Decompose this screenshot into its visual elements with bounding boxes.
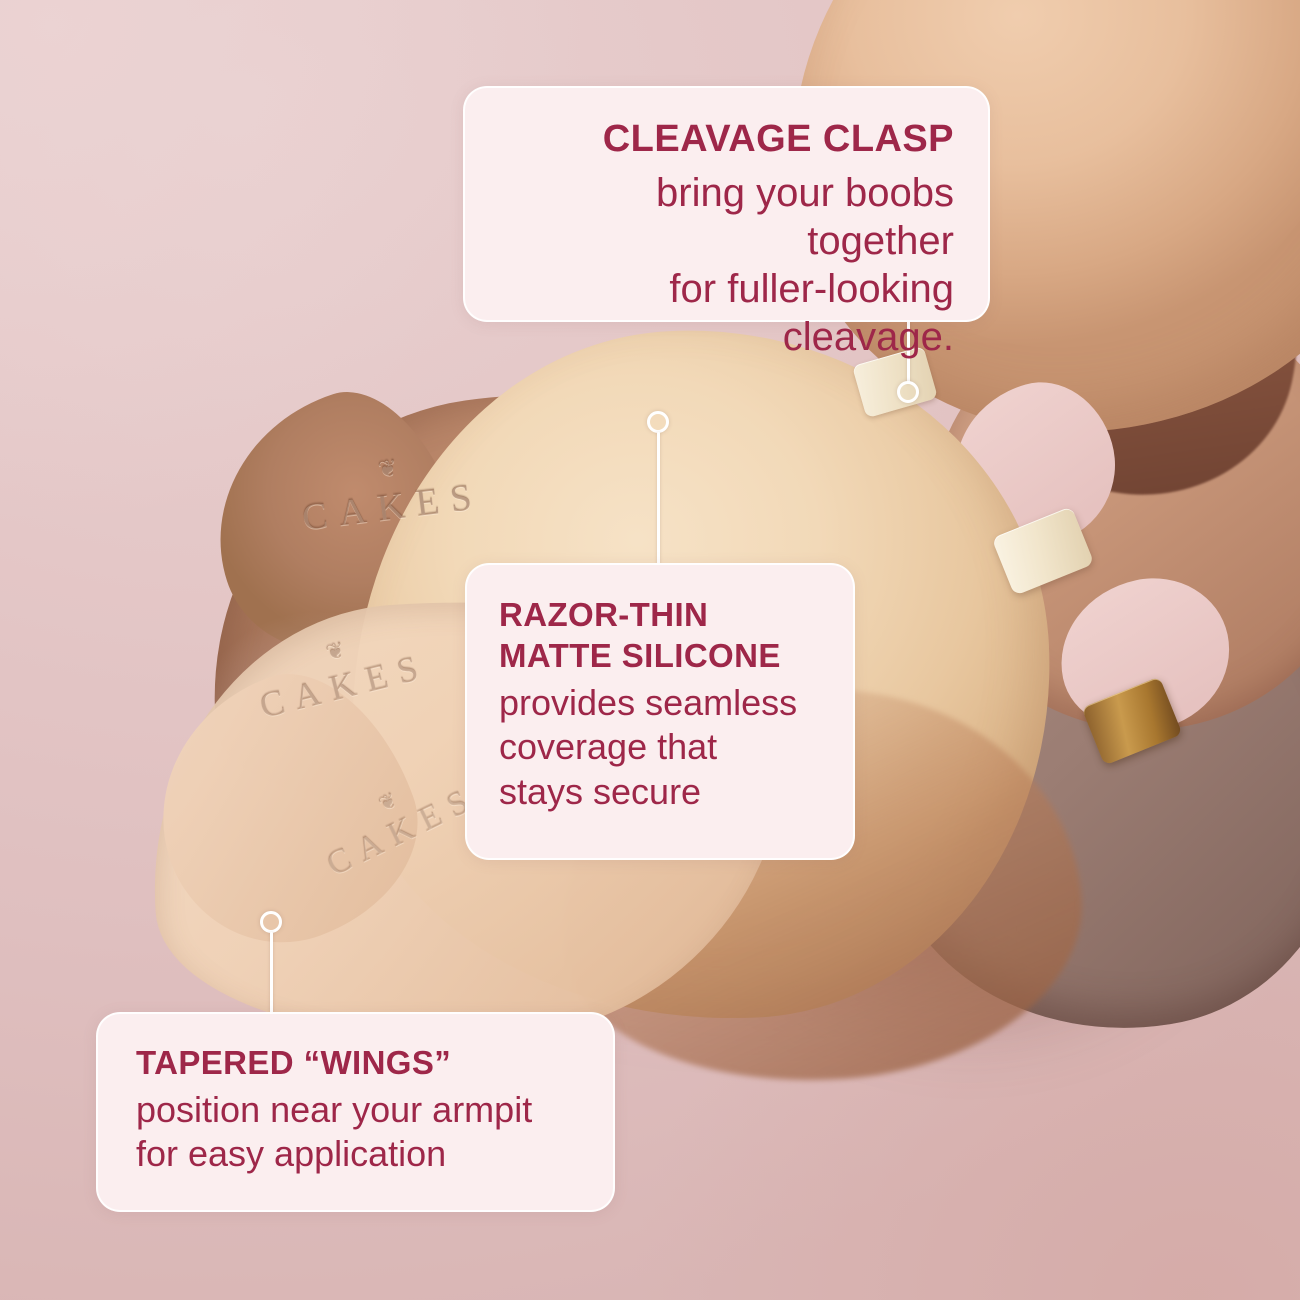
leader-line-matte-silicone bbox=[657, 432, 660, 565]
leader-dot-tapered-wings bbox=[260, 911, 282, 933]
callout-body-line: for fuller-looking bbox=[499, 265, 954, 313]
infographic-canvas: ❦ CAKES ❦ CAKES ❦ CAKES CLEAVAGE CLASP b… bbox=[0, 0, 1300, 1300]
leader-dot-matte-silicone bbox=[647, 411, 669, 433]
callout-heading: CLEAVAGE CLASP bbox=[499, 118, 954, 161]
callout-body-line: stays secure bbox=[499, 770, 821, 815]
callout-heading: TAPERED “WINGS” bbox=[136, 1044, 575, 1082]
callout-cleavage-clasp: CLEAVAGE CLASP bring your boobs together… bbox=[463, 86, 990, 322]
leader-dot-cleavage-clasp bbox=[897, 381, 919, 403]
callout-body-line: provides seamless bbox=[499, 681, 821, 726]
callout-body-line: for easy application bbox=[136, 1132, 575, 1177]
callout-heading: RAZOR-THIN MATTE SILICONE bbox=[499, 595, 821, 677]
callout-body: bring your boobs together for fuller-loo… bbox=[499, 169, 954, 361]
callout-heading-line: MATTE SILICONE bbox=[499, 637, 781, 674]
callout-body-line: position near your armpit bbox=[136, 1088, 575, 1133]
callout-heading-line: RAZOR-THIN bbox=[499, 596, 708, 633]
leader-line-tapered-wings bbox=[270, 932, 273, 1014]
callout-tapered-wings: TAPERED “WINGS” position near your armpi… bbox=[96, 1012, 615, 1212]
callout-body-line: bring your boobs together bbox=[499, 169, 954, 265]
callout-body-line: coverage that bbox=[499, 725, 821, 770]
callout-body-line: cleavage. bbox=[499, 313, 954, 361]
callout-razor-thin-matte-silicone: RAZOR-THIN MATTE SILICONE provides seaml… bbox=[465, 563, 855, 860]
callout-body: provides seamless coverage that stays se… bbox=[499, 681, 821, 815]
callout-body: position near your armpit for easy appli… bbox=[136, 1088, 575, 1177]
